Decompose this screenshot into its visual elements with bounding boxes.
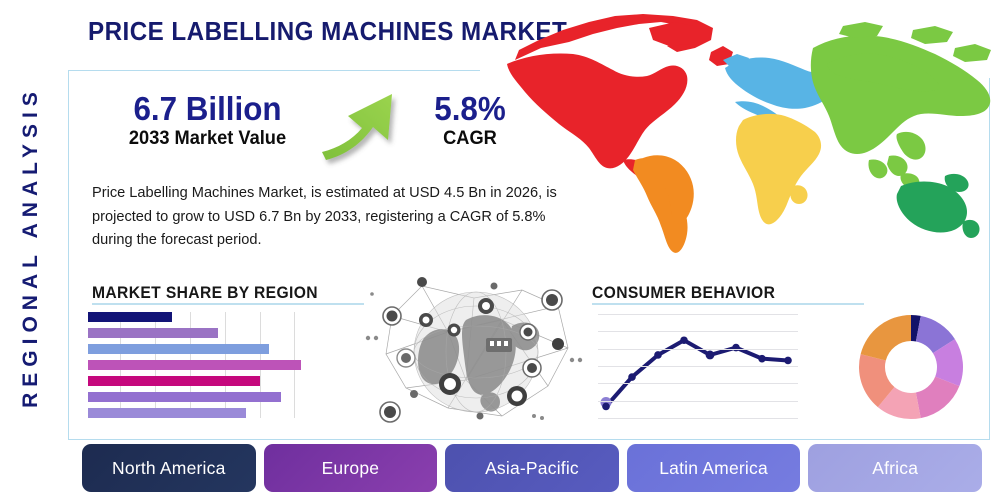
market-share-heading: MARKET SHARE BY REGION <box>92 283 318 303</box>
kpi-row: 6.7 Billion 2033 Market Value 5.8% C <box>90 92 510 170</box>
consumer-behavior-heading: CONSUMER BEHAVIOR <box>592 283 775 303</box>
global-network-globe-icon <box>362 276 590 428</box>
market-share-bar-chart <box>88 312 320 418</box>
kpi-market-value-number: 6.7 Billion <box>105 92 309 127</box>
side-label: REGIONAL ANALYSIS <box>8 52 54 442</box>
region-button-europe[interactable]: Europe <box>264 444 438 492</box>
bar-chart-bar <box>88 392 281 402</box>
region-button-asia-pacific[interactable]: Asia-Pacific <box>445 444 619 492</box>
bar-chart-bar <box>88 376 260 386</box>
side-label-text: REGIONAL ANALYSIS <box>19 86 43 408</box>
region-button-africa[interactable]: Africa <box>808 444 982 492</box>
donut-segment <box>861 315 911 361</box>
infographic-root: REGIONAL ANALYSIS PRICE LABELLING MACHIN… <box>0 0 1000 500</box>
region-button-label: Asia-Pacific <box>485 458 579 479</box>
region-button-north-america[interactable]: North America <box>82 444 256 492</box>
world-map-regions-icon <box>497 8 997 270</box>
region-button-label: North America <box>112 458 225 479</box>
bar-chart-bars <box>88 312 320 418</box>
bar-chart-bar <box>88 344 269 354</box>
bar-chart-bar <box>88 312 172 322</box>
segment-donut-chart <box>852 308 970 426</box>
growth-arrow-up-icon <box>318 86 410 170</box>
region-button-label: Europe <box>322 458 380 479</box>
region-button-latin-america[interactable]: Latin America <box>627 444 801 492</box>
bar-chart-bar <box>88 328 218 338</box>
region-button-row: North AmericaEuropeAsia-PacificLatin Ame… <box>82 444 982 492</box>
region-button-label: Africa <box>872 458 918 479</box>
bar-chart-bar <box>88 360 301 370</box>
kpi-market-value: 6.7 Billion 2033 Market Value <box>100 92 315 149</box>
kpi-market-value-label: 2033 Market Value <box>104 128 310 150</box>
consumer-behavior-line-chart <box>598 312 798 420</box>
page-title: PRICE LABELLING MACHINES MARKET <box>88 16 567 47</box>
consumer-behavior-rule <box>592 303 864 305</box>
bar-chart-bar <box>88 408 246 418</box>
market-share-rule <box>92 303 364 305</box>
region-button-label: Latin America <box>659 458 768 479</box>
line-chart-gridlines <box>598 312 798 420</box>
